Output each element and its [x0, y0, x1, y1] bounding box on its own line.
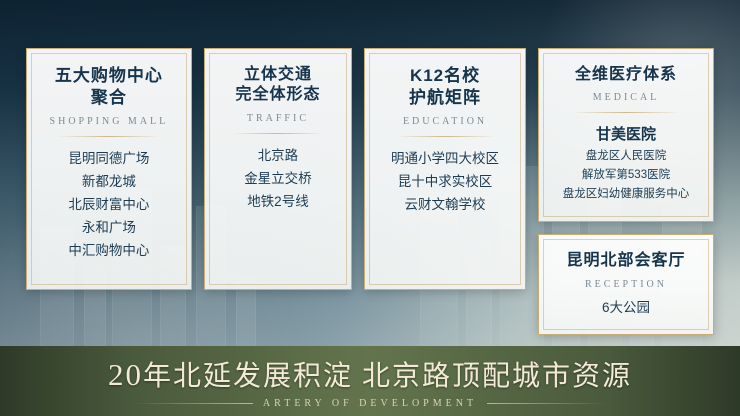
highlight-hospital: 甘美医院: [547, 123, 705, 144]
card-subtitle: SHOPPING MALL: [35, 116, 183, 127]
list-item: 地铁2号线: [213, 190, 343, 213]
card-divider: [57, 136, 160, 137]
list-item: 永和广场: [35, 216, 183, 239]
list-item: 昆十中求实校区: [373, 170, 517, 193]
banner-rule-right: [487, 403, 607, 404]
list-item: 昆明同德广场: [35, 147, 183, 170]
card-divider: [232, 133, 323, 134]
card-title-line1: K12名校: [373, 65, 517, 87]
card-title-line2: 护航矩阵: [373, 87, 517, 109]
card-subtitle: EDUCATION: [373, 116, 517, 127]
card-divider: [395, 136, 496, 137]
card-traffic[interactable]: 立体交通 完全体形态 TRAFFIC 北京路 金星立交桥 地铁2号线: [204, 48, 352, 290]
card-title: 立体交通 完全体形态: [213, 65, 343, 106]
card-subtitle: MEDICAL: [547, 92, 705, 103]
list-item: 解放军第533医院: [547, 166, 705, 185]
banner-subtitle: ARTERY OF DEVELOPMENT: [263, 398, 477, 409]
card-title-line1: 昆明北部会客厅: [547, 251, 705, 271]
card-title-line2: 聚合: [35, 87, 183, 109]
banner-rule-left: [133, 403, 253, 404]
poster-root: 五大购物中心 聚合 SHOPPING MALL 昆明同德广场 新都龙城 北辰财富…: [0, 0, 740, 416]
list-item: 明通小学四大校区: [373, 147, 517, 170]
card-title: 全维医疗体系: [547, 65, 705, 85]
list-item: 云财文翰学校: [373, 193, 517, 216]
card-education[interactable]: K12名校 护航矩阵 EDUCATION 明通小学四大校区 昆十中求实校区 云财…: [364, 48, 526, 290]
list-item: 6大公园: [547, 296, 705, 316]
card-title: K12名校 护航矩阵: [373, 65, 517, 109]
list-item: 北京路: [213, 144, 343, 167]
feature-cards: 五大购物中心 聚合 SHOPPING MALL 昆明同德广场 新都龙城 北辰财富…: [26, 48, 714, 335]
card-title-line2: 完全体形态: [213, 85, 343, 105]
banner-subtitle-row: ARTERY OF DEVELOPMENT: [133, 398, 607, 409]
card-title-line1: 五大购物中心: [35, 65, 183, 87]
banner-headline: 20年北延发展积淀 北京路顶配城市资源: [108, 354, 632, 394]
card-subtitle: TRAFFIC: [213, 113, 343, 124]
card-shopping-mall[interactable]: 五大购物中心 聚合 SHOPPING MALL 昆明同德广场 新都龙城 北辰财富…: [26, 48, 192, 290]
card-item-list: 盘龙区人民医院 解放军第533医院 盘龙区妇幼健康服务中心: [547, 147, 705, 203]
card-divider: [571, 112, 682, 113]
banner-headline-text: 年北延发展积淀 北京路顶配城市资源: [143, 361, 632, 392]
list-item: 中汇购物中心: [35, 239, 183, 262]
card-item-list: 明通小学四大校区 昆十中求实校区 云财文翰学校: [373, 147, 517, 217]
card-title-line1: 立体交通: [213, 65, 343, 85]
list-item: 盘龙区妇幼健康服务中心: [547, 185, 705, 204]
list-item: 金星立交桥: [213, 167, 343, 190]
list-item: 北辰财富中心: [35, 193, 183, 216]
card-item-list: 昆明同德广场 新都龙城 北辰财富中心 永和广场 中汇购物中心: [35, 147, 183, 263]
card-reception[interactable]: 昆明北部会客厅 RECEPTION 6大公园: [538, 234, 714, 334]
bottom-banner: 20年北延发展积淀 北京路顶配城市资源 ARTERY OF DEVELOPMEN…: [0, 346, 740, 416]
card-title-line1: 全维医疗体系: [547, 65, 705, 85]
card-medical[interactable]: 全维医疗体系 MEDICAL 甘美医院 盘龙区人民医院 解放军第533医院 盘龙…: [538, 48, 714, 222]
list-item: 新都龙城: [35, 170, 183, 193]
card-item-list: 北京路 金星立交桥 地铁2号线: [213, 144, 343, 214]
list-item: 盘龙区人民医院: [547, 147, 705, 166]
card-title: 五大购物中心 聚合: [35, 65, 183, 109]
card-subtitle: RECEPTION: [547, 279, 705, 290]
right-card-column: 全维医疗体系 MEDICAL 甘美医院 盘龙区人民医院 解放军第533医院 盘龙…: [538, 48, 714, 335]
banner-number: 20: [108, 357, 143, 392]
card-title: 昆明北部会客厅: [547, 251, 705, 271]
